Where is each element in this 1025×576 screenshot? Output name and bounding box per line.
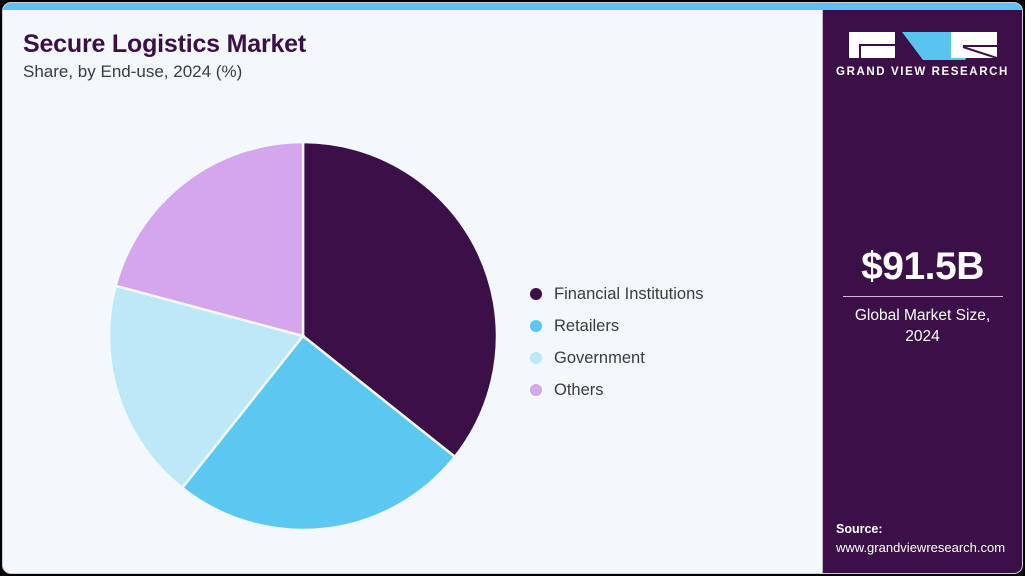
- source-block: Source: www.grandviewresearch.com: [836, 520, 1014, 557]
- chart-legend: Financial InstitutionsRetailersGovernmen…: [530, 278, 800, 406]
- logo-marks: [849, 32, 997, 58]
- market-size-value: $91.5B: [823, 247, 1022, 288]
- legend-label: Retailers: [554, 317, 619, 336]
- legend-color-swatch-icon: [530, 320, 542, 332]
- brand-panel: GRAND VIEW RESEARCH $91.5B Global Market…: [822, 10, 1022, 574]
- legend-color-swatch-icon: [530, 288, 542, 300]
- chart-pane: Secure Logistics Market Share, by End-us…: [3, 10, 821, 574]
- pie-slice-group: [109, 142, 497, 530]
- legend-color-swatch-icon: [530, 352, 542, 364]
- top-accent-bar: [3, 3, 1022, 10]
- legend-item[interactable]: Government: [530, 342, 800, 374]
- infographic-card: Secure Logistics Market Share, by End-us…: [2, 2, 1023, 574]
- legend-label: Others: [554, 381, 604, 400]
- logo-letter-g-icon: [849, 32, 895, 58]
- source-url[interactable]: www.grandviewresearch.com: [836, 539, 1014, 557]
- source-heading: Source:: [836, 520, 1014, 539]
- legend-item[interactable]: Financial Institutions: [530, 278, 800, 310]
- logo-wordmark: GRAND VIEW RESEARCH: [823, 66, 1022, 78]
- legend-label: Financial Institutions: [554, 285, 704, 304]
- legend-item[interactable]: Others: [530, 374, 800, 406]
- pie-chart: [107, 140, 499, 532]
- legend-color-swatch-icon: [530, 384, 542, 396]
- infographic-root: Secure Logistics Market Share, by End-us…: [0, 0, 1025, 576]
- legend-item[interactable]: Retailers: [530, 310, 800, 342]
- page-title: Secure Logistics Market: [23, 30, 306, 59]
- stat-divider: [843, 296, 1003, 297]
- grand-view-research-logo: GRAND VIEW RESEARCH: [823, 32, 1022, 78]
- logo-letter-r-icon: [951, 32, 997, 58]
- page-subtitle: Share, by End-use, 2024 (%): [23, 62, 242, 82]
- market-size-label: Global Market Size, 2024: [823, 306, 1022, 348]
- market-size-stat: $91.5B Global Market Size, 2024: [823, 247, 1022, 348]
- pie-chart-svg: [107, 140, 499, 532]
- legend-label: Government: [554, 349, 645, 368]
